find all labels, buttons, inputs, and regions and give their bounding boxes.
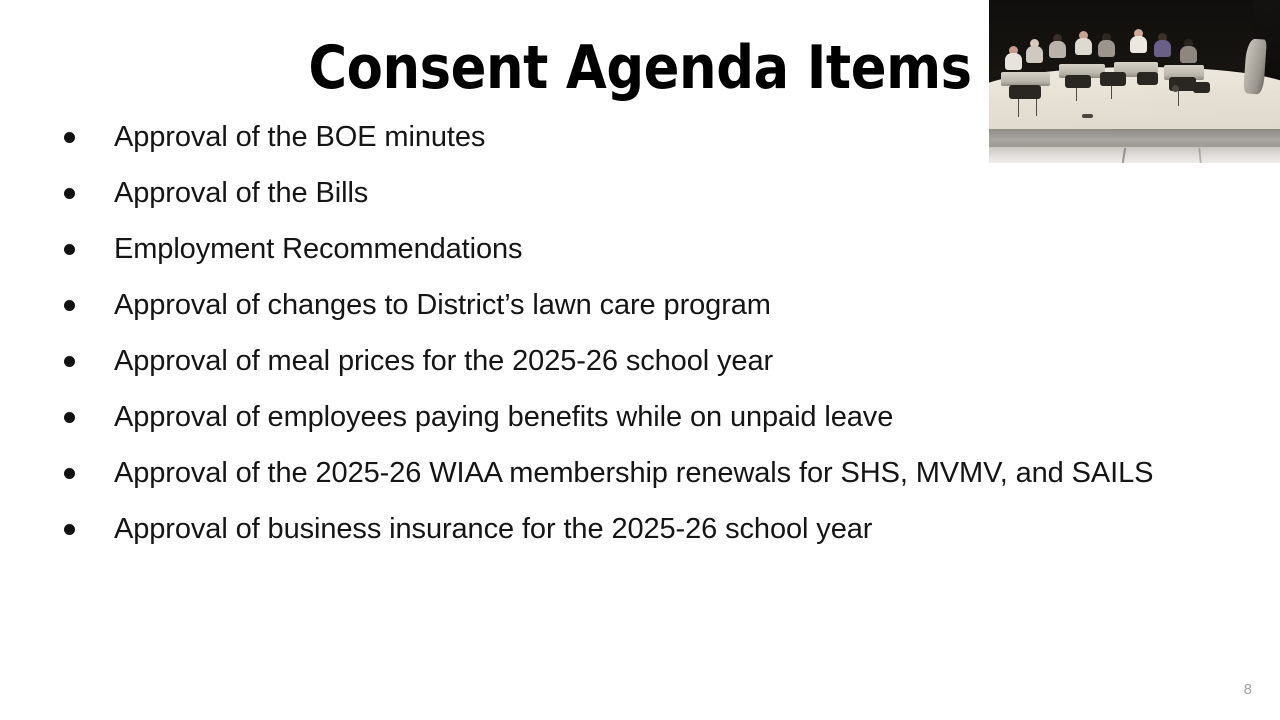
page-number: 8 [1244,681,1252,698]
seated-person [1044,34,1070,60]
bullet-point-icon [64,356,75,367]
list-item: Approval of employees paying benefits wh… [56,398,1176,436]
list-item: Approval of meal prices for the 2025-26 … [56,342,1176,380]
seated-person [1175,39,1201,65]
list-item: Approval of the 2025-26 WIAA membership … [56,454,1176,492]
seated-person [1149,33,1175,59]
live-meeting-camera-feed[interactable] [989,0,1280,163]
consent-agenda-list: Approval of the BOE minutes Approval of … [56,118,1176,548]
chair-leg [1076,86,1077,101]
bullet-point-icon [64,132,75,143]
auditorium-floor [989,147,1280,163]
seated-person [1070,31,1096,57]
list-item-label: Employment Recommendations [114,230,1176,268]
bullet-point-icon [64,188,75,199]
stage-object [1082,114,1093,118]
list-item: Approval of business insurance for the 2… [56,510,1176,548]
chair-leg [1111,85,1112,100]
list-item: Employment Recommendations [56,230,1176,268]
chair [1065,75,1091,88]
bullet-point-icon [64,468,75,479]
bullet-point-icon [64,244,75,255]
presentation-slide: Consent Agenda Items Approval of the BOE… [0,0,1280,720]
list-item-label: Approval of business insurance for the 2… [114,510,1176,548]
chair-leg [1036,98,1037,116]
list-item-label: Approval of the Bills [114,174,1176,212]
chair-leg [1178,90,1179,106]
list-item: Approval of the Bills [56,174,1176,212]
seated-person [1126,29,1152,55]
list-item-label: Approval of the 2025-26 WIAA membership … [114,454,1154,492]
bullet-point-icon [64,412,75,423]
chair [1100,72,1126,87]
list-item-label: Approval of meal prices for the 2025-26 … [114,342,1176,380]
bullet-point-icon [64,524,75,535]
chair-leg [1018,98,1019,118]
chair [1009,85,1041,100]
chair [1193,82,1210,93]
list-item-label: Approval of changes to District’s lawn c… [114,286,1176,324]
list-item-label: Approval of employees paying benefits wh… [114,398,1176,436]
chair [1137,72,1157,85]
list-item: Approval of changes to District’s lawn c… [56,286,1176,324]
bullet-point-icon [64,300,75,311]
seated-person [1021,39,1047,65]
stage-apron [989,129,1280,149]
seated-person [1094,33,1120,59]
